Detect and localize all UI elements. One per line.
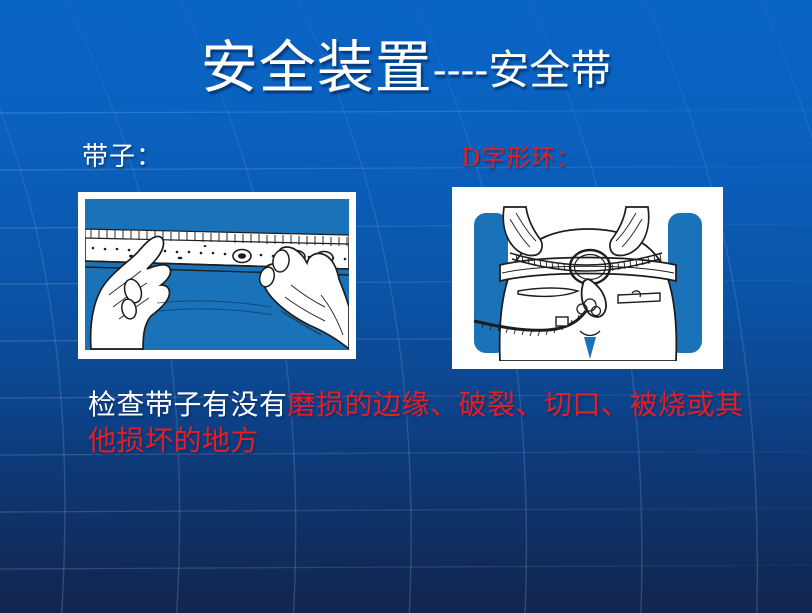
slide-title: 安全装置----安全带 <box>0 40 812 97</box>
slide-title-sub: 安全带 <box>488 46 611 94</box>
label-d-ring: D字形环： <box>461 138 581 173</box>
illustration-d-ring <box>452 187 723 369</box>
presentation-slide: 安全装置----安全带 带子： D字形环： <box>0 0 812 613</box>
illustration-strap-inspection <box>78 192 356 359</box>
label-strap: 带子： <box>82 136 163 173</box>
caption-white-part: 检查带子有没有 <box>88 388 288 421</box>
slide-title-main: 安全装置 <box>201 35 433 101</box>
slide-title-separator: ---- <box>433 46 488 94</box>
caption-text: 检查带子有没有磨损的边缘、破裂、切口、被烧或其他损坏的地方 <box>88 387 760 460</box>
